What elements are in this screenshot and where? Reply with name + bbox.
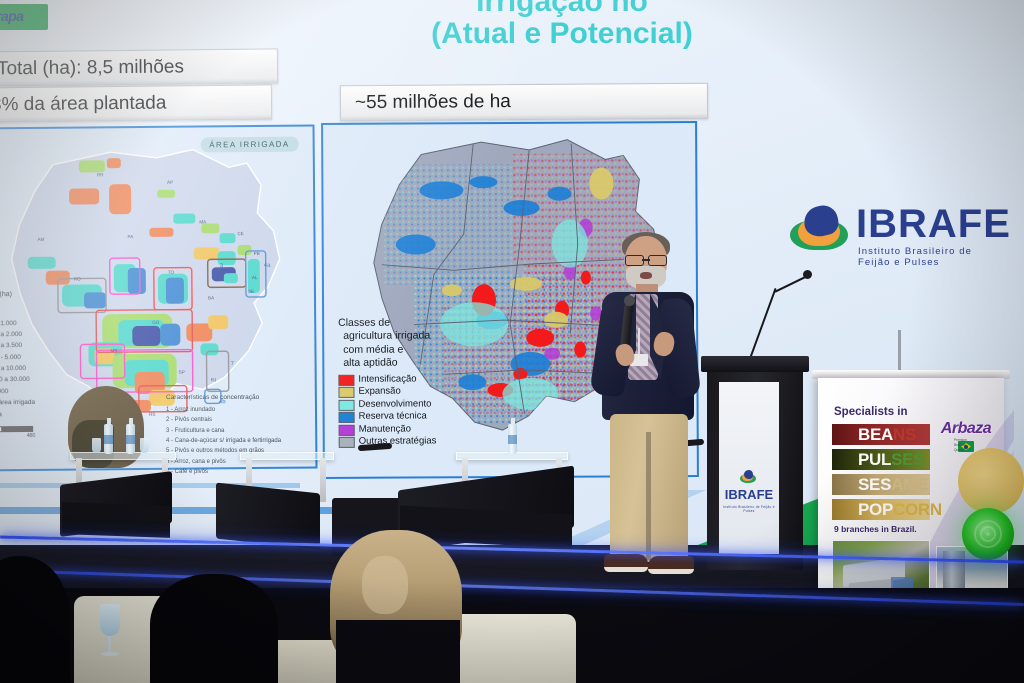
banner-footer-text: 9 branches in Brazil. — [834, 524, 917, 534]
stage-monitor-base — [62, 502, 170, 538]
cert-line: Quality — [954, 448, 967, 453]
glass-side-table — [70, 452, 176, 460]
svg-text:BA: BA — [208, 295, 215, 300]
legend-item: 2.000 a 3.500 — [0, 340, 35, 352]
concentration-item: 4 - Cana-de-açúcar s/ irrigada e fertirr… — [166, 436, 281, 446]
svg-text:AL: AL — [252, 275, 258, 280]
legend-item: 1.000 a 2.000 — [0, 329, 34, 341]
shoe-left — [604, 554, 648, 572]
legend-swatch-expansao — [338, 387, 354, 398]
legend-item: 3.500 - 5.000 — [0, 352, 35, 364]
callout-total-ha-text: Total (ha): 8,5 milhões — [0, 56, 184, 80]
legend-label: Intensificação — [358, 373, 416, 386]
lectern: IBRAFE Instituto Brasileiro de Feijão e … — [707, 356, 803, 570]
embrapa-logo: rapa — [0, 4, 48, 30]
svg-text:SP: SP — [179, 370, 185, 375]
lectern-logo-word: IBRAFE — [725, 487, 773, 502]
right-legend-title-line4: alta aptidão — [338, 357, 458, 371]
banner-headline: Specialists in — [834, 406, 908, 418]
legend-item: > 30.000 — [0, 386, 35, 398]
legend-title-line2: 2019 — [0, 303, 34, 316]
legend-note-line2: or a 500 ha — [0, 408, 35, 420]
gooseneck-microphone-head — [803, 270, 812, 279]
right-map-legend: Classes de agricultura irrigada com médi… — [338, 316, 459, 449]
legend-title-line1: a Irrigada (ha) — [0, 289, 34, 302]
ibrafe-bean-icon — [790, 206, 850, 252]
legend-item: 500 a 1.000 — [0, 317, 34, 329]
concentration-item: 3 - Fruticultura e cana — [166, 426, 281, 436]
banner-product-sesame: SESAME — [832, 474, 930, 495]
ibrafe-bean-icon — [740, 470, 756, 483]
callout-potential-ha: ~55 milhões de ha — [340, 83, 708, 122]
green-stage-light — [962, 508, 1014, 560]
stage-monitor — [216, 483, 320, 550]
scale-right: 480 — [27, 432, 35, 441]
svg-text:TO: TO — [168, 270, 175, 275]
chair-cover — [446, 614, 576, 683]
callout-percent-planted-text: 3% da área plantada — [0, 92, 166, 116]
legend-swatch-reserva-tecnica — [339, 412, 355, 423]
embrapa-logo-text: rapa — [0, 8, 24, 24]
ibrafe-tagline: Instituto Brasileiro de Feijão e Pulses — [858, 246, 1004, 268]
svg-text:RS: RS — [149, 412, 155, 417]
legend-label: Reserva técnica — [359, 411, 427, 424]
legend-row: Outras estratégias — [339, 436, 459, 449]
trouser-seam — [646, 432, 651, 560]
lectern-ibrafe-logo: IBRAFE Instituto Brasileiro de Feijão e … — [719, 468, 779, 513]
svg-text:MS: MS — [110, 348, 117, 353]
banner-product-pulses: PULSES — [832, 449, 930, 470]
svg-text:AM: AM — [37, 237, 44, 242]
audience-member-blonde-body — [336, 620, 460, 683]
ibrafe-backdrop-logo: IBRAFE Instituto Brasileiro de Feijão e … — [790, 196, 1004, 270]
legend-note-line1: ções com área irrigada — [0, 397, 35, 409]
concentration-item: 2 - Pivôs centrais — [166, 415, 281, 425]
banner-product-label: BEANS — [858, 425, 916, 445]
legend-row: Manutenção — [339, 423, 459, 436]
wine-glass — [98, 604, 122, 658]
legend-swatch-intensificacao — [338, 374, 354, 385]
banner-product-popcorn: POPCORN — [832, 499, 930, 520]
callout-percent-planted: 3% da área plantada — [0, 84, 272, 122]
arbaza-wordmark: Arbaza — [936, 420, 996, 438]
water-bottle — [104, 424, 113, 454]
water-bottle — [126, 424, 135, 454]
table-leg — [320, 458, 326, 502]
drinking-glass — [140, 438, 149, 453]
slide-title-line2: (Atual e Potencial) — [352, 18, 772, 50]
svg-text:GO: GO — [152, 320, 160, 325]
legend-row: Intensificação — [338, 373, 458, 386]
banner-product-label: SESAME — [858, 475, 928, 495]
drinking-glass — [92, 438, 101, 453]
svg-text:AP: AP — [167, 180, 173, 185]
svg-text:PB: PB — [254, 251, 260, 256]
banner-product-label: PULSES — [858, 450, 924, 470]
svg-text:RR: RR — [97, 172, 104, 177]
svg-text:CE: CE — [237, 231, 243, 236]
svg-text:PA: PA — [127, 234, 134, 239]
right-legend-title: Classes de agricultura irrigada com médi… — [338, 316, 458, 370]
lectern-top — [701, 356, 809, 372]
svg-text:SE: SE — [248, 289, 254, 294]
map-tag-area-irrigada: ÁREA IRRIGADA — [200, 137, 299, 153]
banner-product-label: POPCORN — [858, 500, 942, 520]
audience-silhouette — [150, 574, 278, 683]
legend-row: Reserva técnica — [339, 411, 459, 424]
svg-text:RJ: RJ — [211, 377, 217, 382]
concentration-item: 7 - Café e pivôs — [166, 467, 281, 477]
concentration-characteristics: Características de concentração 1 - Arro… — [166, 392, 281, 477]
speaker — [592, 236, 702, 588]
conference-photo: rapa Irrigação no (Atual e Potencial) To… — [0, 0, 1024, 683]
map-scale-numbers: 240 480 — [0, 432, 35, 441]
left-map-legend: a Irrigada (ha) 2019 500 a 1.000 1.000 a… — [0, 289, 35, 441]
slide-title-line1: Irrigação no — [352, 0, 772, 18]
legend-row: Desenvolvimento — [339, 398, 459, 411]
callout-potential-ha-text: ~55 milhões de ha — [355, 91, 511, 114]
legend-swatch-desenvolvimento — [339, 399, 355, 410]
water-bottle — [508, 424, 517, 454]
lectern-branding-panel: IBRAFE Instituto Brasileiro de Feijão e … — [719, 382, 779, 554]
cert-line: Brazilian — [954, 443, 967, 448]
right-legend-title-line2: agricultura irrigada — [338, 330, 458, 344]
mouth — [640, 272, 652, 279]
lanyard — [638, 328, 640, 356]
legend-item: 5.000 a 10.000 — [0, 363, 35, 375]
arbaza-certification-text: Premium Brazilian Quality — [954, 438, 967, 452]
gold-disc-light — [958, 448, 1024, 514]
legend-swatch-manutencao — [339, 424, 355, 435]
concentration-title: Características de concentração — [166, 392, 281, 403]
lectern-logo-tagline: Instituto Brasileiro de Feijão e Pulses — [719, 505, 779, 513]
legend-label: Manutenção — [359, 423, 411, 436]
legend-row: Expansão — [338, 386, 458, 399]
eyeglasses — [625, 255, 667, 264]
right-legend-title-line3: com média e — [338, 343, 458, 357]
legend-label: Expansão — [358, 386, 400, 399]
right-legend-title-line1: Classes de — [338, 316, 458, 330]
callout-total-ha: Total (ha): 8,5 milhões — [0, 48, 278, 86]
svg-text:4a: 4a — [264, 263, 271, 269]
legend-swatch-outras-estrategias — [339, 437, 355, 448]
slide-title: Irrigação no (Atual e Potencial) — [352, 0, 772, 49]
legend-label: Desenvolvimento — [359, 398, 432, 411]
svg-text:RO: RO — [74, 276, 81, 281]
banner-pole — [898, 330, 901, 374]
legend-item: 10.000 a 30.000 — [0, 374, 35, 386]
svg-text:MA: MA — [199, 219, 207, 224]
banner-product-beans: BEANS — [832, 424, 930, 445]
shoe-right — [648, 556, 694, 574]
concentration-item: 1 - Arroz inundado — [166, 405, 281, 415]
ibrafe-wordmark: IBRAFE — [856, 202, 1011, 247]
